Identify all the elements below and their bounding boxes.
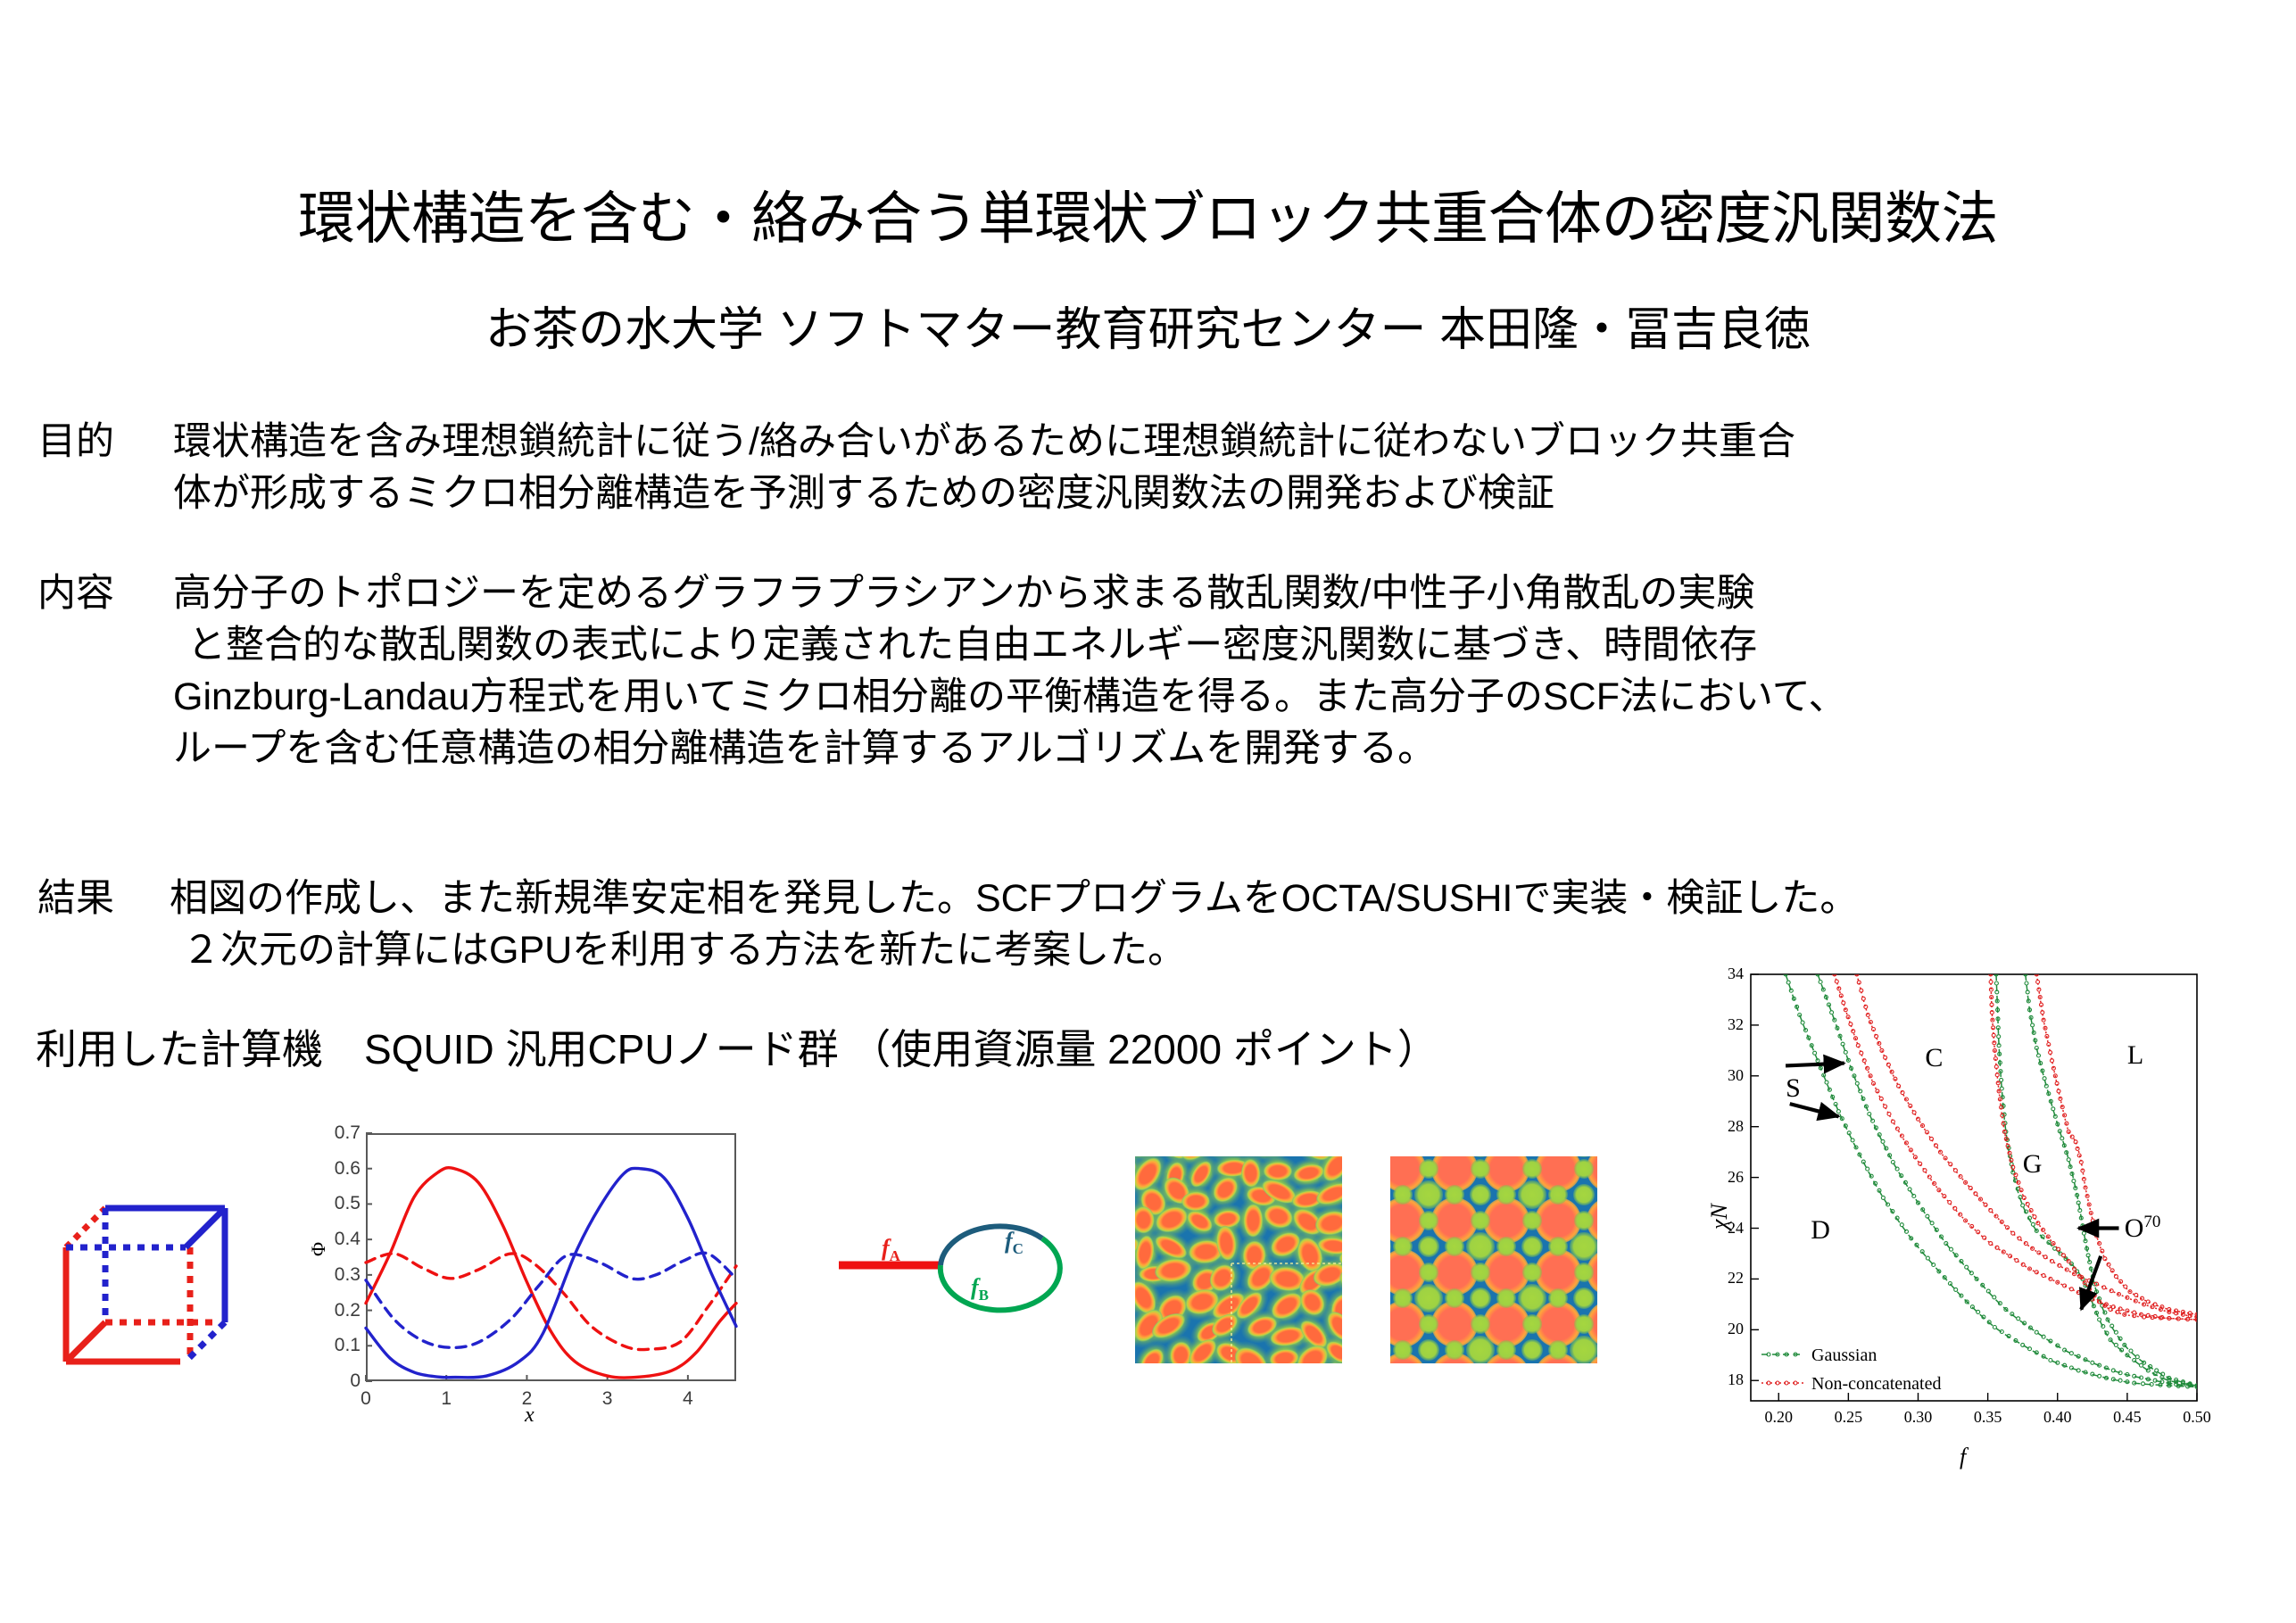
section-machine: 利用した計算機 SQUID 汎用CPUノード群 （使用資源量 22000 ポイン… [36,1023,1438,1076]
section-purpose: 目的 環状構造を含み理想鎖統計に従う/絡み合いがあるために理想鎖統計に従わないブ… [37,416,1795,519]
section-content-label: 内容 [37,567,173,619]
section-result-label: 結果 [37,873,170,924]
section-purpose-line: 環状構造を含み理想鎖統計に従う/絡み合いがあるために理想鎖統計に従わないブロック… [173,416,1795,468]
unit-cell-cube-figure [54,1174,286,1406]
phi-chart-ytick: 0.2 [312,1300,361,1321]
phi-chart-ytick: 0.5 [312,1193,361,1214]
section-content-line: 高分子のトポロジーを定めるグラフラプラシアンから求まる散乱関数/中性子小角散乱の… [173,567,1847,619]
section-purpose-line: 体が形成するミクロ相分離構造を予測するための密度汎関数法の開発および検証 [173,468,1795,519]
phi-chart-xtick: 4 [675,1388,701,1410]
phi-chart-ytick: 0.4 [312,1229,361,1250]
phi-chart-ytick: 0.6 [312,1158,361,1180]
tadpole-block-copolymer-graph: fA fB fC [828,1196,1096,1365]
graph-label-fa: fA [882,1235,900,1265]
phi-chart-ytick: 0.3 [312,1264,361,1286]
phi-chart-xtick: 1 [433,1388,460,1410]
phase-series [2036,974,2197,1314]
cube-svg [54,1174,286,1406]
phi-chart-plot-area [366,1133,736,1381]
section-content-line: Ginzburg-Landau方程式を用いてミクロ相分離の平衡構造を得る。また高… [173,671,1847,723]
ordered-pattern-svg [1390,1156,1597,1363]
section-result-body: 相図の作成し、また新規準安定相を発見した。SCFプログラムをOCTA/SUSHI… [170,873,1858,976]
section-content-line: と整合的な散乱関数の表式により定義された自由エネルギー密度汎関数に基づき、時間依… [173,619,1847,671]
section-purpose-label: 目的 [37,416,173,468]
disordered-pattern-svg [1135,1156,1342,1363]
phase-legend-symbols [1761,1353,1804,1385]
phi-chart-xtick: 0 [352,1388,379,1410]
phase-legend-label-nonconcatenated: Non-concatenated [1811,1374,1941,1395]
phi-chart-ytick: 0.1 [312,1335,361,1356]
phase-series [1786,974,2197,1387]
phi-chart-xtick: 3 [594,1388,621,1410]
disordered-pattern-figure [1135,1156,1342,1363]
section-result-line: ２次元の計算にはGPUを利用する方法を新たに考案した。 [170,924,1858,976]
section-result-line: 相図の作成し、また新規準安定相を発見した。SCFプログラムをOCTA/SUSHI… [170,873,1858,924]
phase-legend-label-gaussian: Gaussian [1811,1346,1877,1366]
phase-curves [1704,962,2275,1479]
section-content-body: 高分子のトポロジーを定めるグラフラプラシアンから求まる散乱関数/中性子小角散乱の… [173,567,1847,774]
density-profile-chart: Φ x 00.10.20.30.40.50.60.7 01234 [312,1122,767,1430]
phase-annotation-arrow [1790,1104,1839,1116]
phase-series [1991,974,2197,1320]
page-title: 環状構造を含む・絡み合う単環状ブロック共重合体の密度汎関数法 [0,190,2296,247]
section-content-line: ループを含む任意構造の相分離構造を計算するアルゴリズムを開発する。 [173,723,1847,774]
phi-chart-ytick: 0.7 [312,1122,361,1144]
graph-label-fb: fB [971,1274,989,1304]
phase-series [1835,974,2197,1320]
graph-label-fc: fC [1005,1228,1024,1258]
page-subtitle: お茶の水大学 ソフトマター教育研究センター 本田隆・冨吉良徳 [0,307,2296,353]
section-content: 内容 高分子のトポロジーを定めるグラフラプラシアンから求まる散乱関数/中性子小角… [37,567,1847,774]
section-purpose-body: 環状構造を含み理想鎖統計に従う/絡み合いがあるために理想鎖統計に従わないブロック… [173,416,1795,519]
phase-diagram-figure: χN f 182022242628303234 0.200.250.300.35… [1704,962,2275,1479]
phase-series [1857,974,2197,1317]
ordered-square-pattern-figure [1390,1156,1597,1363]
phase-annotation-arrow [1786,1064,1844,1066]
section-result: 結果 相図の作成し、また新規準安定相を発見した。SCFプログラムをOCTA/SU… [37,873,1858,976]
phi-chart-xtick: 2 [513,1388,540,1410]
graph-svg [828,1196,1096,1365]
